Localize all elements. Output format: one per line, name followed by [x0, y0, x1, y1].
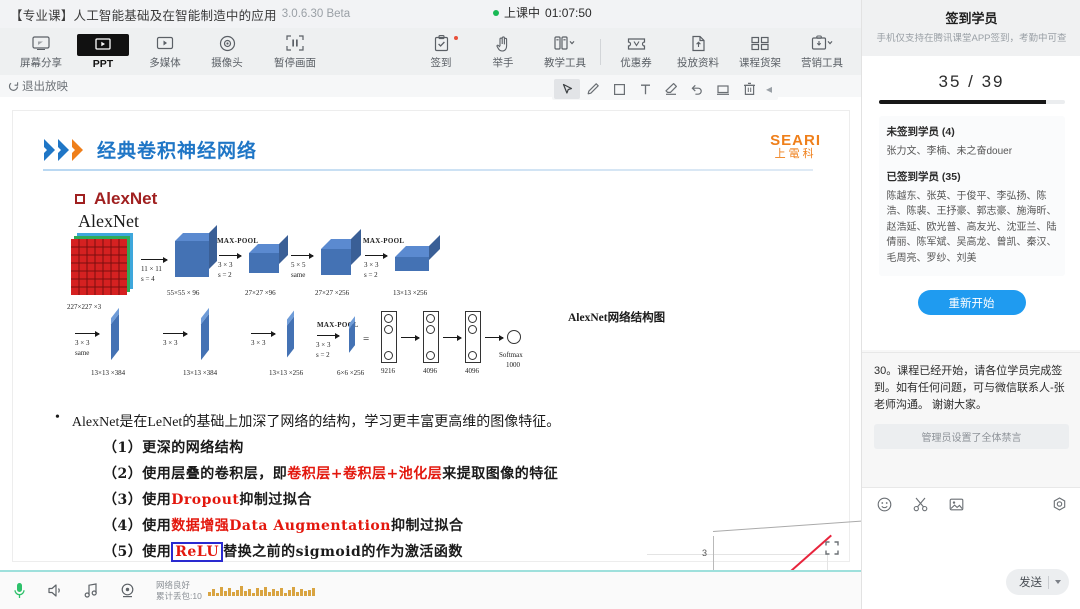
speaker-icon[interactable]: [46, 582, 64, 600]
slide-header-rule: [43, 169, 813, 171]
toolbar-screen-share[interactable]: 屏幕分享: [10, 28, 72, 75]
toolbar-raise-hand[interactable]: 举手: [472, 28, 534, 75]
drawing-toolbar: ◂: [552, 78, 778, 100]
composer-toolbar: [862, 488, 1080, 512]
exit-presentation-icon: [8, 81, 19, 92]
toolbar-screen-share-label: 屏幕分享: [20, 55, 62, 70]
figure-label-conv2-a: 5 × 5: [291, 261, 305, 269]
bullet-sub-2-t2: 来提取图像的特征: [442, 466, 558, 482]
emoji-icon[interactable]: [876, 496, 892, 512]
trash-icon[interactable]: [736, 79, 762, 99]
pen-icon[interactable]: [580, 79, 606, 99]
toolbar-left-group: 屏幕分享 PPT 多媒体: [10, 28, 332, 75]
figure-label-fc2: 4096: [423, 367, 437, 375]
signed-heading: 已签到学员 (35): [887, 169, 1057, 184]
undo-icon[interactable]: [684, 79, 710, 99]
chat-composer: 发送: [862, 487, 1080, 609]
bullet-sub-2-t0: 使用层叠的卷积层，即: [142, 466, 287, 482]
figure-name: AlexNet: [78, 211, 139, 232]
figure-label-pool2-b: s = 2: [364, 271, 378, 279]
exit-presentation-label: 退出放映: [22, 78, 68, 94]
live-timer: 01:07:50: [545, 6, 592, 20]
toolbar-camera[interactable]: 摄像头: [196, 28, 258, 75]
figure-arrow-6: [163, 333, 187, 334]
figure-label-conv4-a: 3 × 3: [163, 339, 177, 347]
toolbar-raise-hand-label: 举手: [493, 55, 514, 70]
bullet-sub-4-t1: 数据增强Data Augmentation: [171, 518, 391, 534]
bullet-sub-3: （3）使用Dropout抑制过拟合: [103, 489, 755, 509]
figure-label-pool3-b: s = 2: [316, 351, 330, 359]
toolbar-coupon-label: 优惠券: [620, 55, 652, 70]
send-options-caret-icon[interactable]: [1055, 580, 1061, 584]
send-button-label: 发送: [1019, 574, 1042, 590]
figure-arrow-2: [219, 255, 241, 256]
bottom-status-bar: 网络良好 累计丢包:10: [0, 570, 861, 609]
figure-block-conv2: [321, 249, 351, 275]
slide-heading: AlexNet: [75, 189, 157, 209]
figure-label-conv1-b: s = 4: [141, 275, 155, 283]
seari-logo-en: SEARI: [770, 133, 821, 148]
send-button-divider: [1048, 576, 1049, 589]
figure-arrow-3: [291, 255, 313, 256]
alexnet-figure: AlexNet: [63, 211, 543, 391]
figure-label-conv2-b: same: [291, 271, 305, 279]
figure-caption: AlexNet网络结构图: [568, 309, 665, 325]
main-toolbar: 屏幕分享 PPT 多媒体: [0, 28, 861, 75]
teaching-tools-icon: [554, 33, 576, 53]
slide-section-title: 经典卷积神经网络: [97, 136, 257, 163]
scissors-icon[interactable]: [912, 496, 928, 512]
bullet-sub-4-num: （4）: [103, 518, 142, 534]
send-button[interactable]: 发送: [1006, 569, 1069, 595]
toolbar-teaching-tools[interactable]: 教学工具: [534, 28, 596, 75]
send-row: 发送: [1006, 569, 1069, 595]
figure-label-conv3-b: same: [75, 349, 89, 357]
send-material-icon: [691, 33, 706, 53]
raise-hand-icon: [496, 33, 511, 53]
bullet-sub-4-t0: 使用: [142, 518, 171, 534]
screen-share-icon: [32, 33, 50, 53]
toolbar-ppt-label: PPT: [93, 58, 113, 70]
image-icon[interactable]: [948, 496, 964, 512]
mute-notice: 管理员设置了全体禁言: [874, 424, 1069, 449]
bullet-sub-4-t2: 抑制过拟合: [391, 518, 464, 534]
bullet-sub-5-t0: 使用: [142, 544, 171, 560]
signed-count: (35): [942, 171, 961, 183]
toolbar-checkin[interactable]: 签到: [410, 28, 472, 75]
chat-message: 30。课程已经开始，请各位学员完成签到。如有任何问题，可与微信联系人-张老师沟通…: [874, 363, 1069, 414]
not-signed-count: (4): [942, 126, 955, 138]
chat-area: 30。课程已经开始，请各位学员完成签到。如有任何问题，可与微信联系人-张老师沟通…: [862, 352, 1080, 487]
toolbar-media[interactable]: 多媒体: [134, 28, 196, 75]
figure-label-pool2-a: 3 × 3: [364, 261, 378, 269]
text-icon[interactable]: [632, 79, 658, 99]
bullet-sub-3-t1: Dropout: [171, 492, 239, 508]
figure-label-conv3-out: 13×13 ×384: [91, 369, 125, 377]
slide-chevrons-icon: [43, 137, 91, 163]
window-version: 3.0.6.30 Beta: [282, 8, 350, 20]
bullet-sub-4: （4）使用数据增强Data Augmentation抑制过拟合: [103, 515, 755, 535]
signin-name-lists: 未签到学员 (4) 张力文、李楠、未之奋douer 已签到学员 (35) 陈越东…: [879, 116, 1065, 276]
figure-label-pool2-out: 13×13 ×256: [393, 289, 427, 297]
figure-label-conv5-a: 3 × 3: [251, 339, 265, 347]
pause-frame-icon: [286, 33, 304, 53]
figure-label-conv1-a: 11 × 11: [141, 265, 162, 273]
figure-block-pool3: [349, 321, 355, 353]
input-image-stack: [71, 233, 133, 295]
toolbar-pause-frame-label: 暂停画面: [274, 55, 316, 70]
not-signed-heading: 未签到学员 (4): [887, 124, 1057, 139]
relu-positive-segment: [712, 535, 832, 570]
camera-icon: [219, 33, 236, 53]
signin-progress-fill: [879, 100, 1046, 104]
fullscreen-icon[interactable]: [825, 541, 841, 557]
toolbar-send-material[interactable]: 投放资料: [667, 28, 729, 75]
bullet-main-text: AlexNet是在LeNet的基础上加深了网络的结构，学习更丰富更高维的图像特征…: [72, 411, 560, 431]
bullet-square-icon: [75, 194, 85, 204]
toolbar-pause-frame[interactable]: 暂停画面: [258, 28, 332, 75]
slide-canvas[interactable]: 经典卷积神经网络 SEARI 上電科 AlexNet AlexNet: [12, 110, 850, 562]
toolbar-coupon[interactable]: 优惠券: [605, 28, 667, 75]
figure-label-pool1-title: MAX-POOL: [217, 237, 258, 245]
live-status-label: 上课中: [504, 4, 540, 21]
microphone-icon[interactable]: [10, 582, 28, 600]
figure-block-conv1: [175, 241, 209, 277]
figure-arrow-11: [485, 337, 503, 338]
bullet-sub-5-relu-annotation: ReLU: [171, 542, 223, 562]
figure-arrow-7: [251, 333, 275, 334]
bullet-sub-3-t2: 抑制过拟合: [239, 492, 312, 508]
bullet-main: • AlexNet是在LeNet的基础上加深了网络的结构，学习更丰富更高维的图像…: [55, 411, 755, 431]
network-packet-loss: 累计丢包:10: [156, 591, 202, 602]
eraser-icon[interactable]: [658, 79, 684, 99]
app-root: 【专业课】人工智能基础及在智能制造中的应用 3.0.6.30 Beta 上课中 …: [0, 0, 1080, 609]
live-status: 上课中 01:07:50: [493, 4, 592, 21]
settings-icon[interactable]: [1051, 496, 1067, 512]
signin-progress-bar: [879, 100, 1065, 104]
figure-label-input: 227×227 ×3: [67, 303, 101, 311]
ppt-icon: [77, 34, 129, 56]
bullet-sub-5-num: （5）: [103, 544, 142, 560]
signin-panel-title: 签到学员: [872, 8, 1071, 27]
figure-arrow-8: [317, 335, 339, 336]
network-status-text: 网络良好 累计丢包:10: [156, 580, 202, 601]
figure-block-conv3: [111, 314, 119, 360]
toolbar-divider: [600, 39, 601, 65]
restart-button[interactable]: 重新开始: [918, 290, 1026, 315]
figure-label-equals: =: [363, 333, 369, 345]
figure-label-conv5-out: 13×13 ×256: [269, 369, 303, 377]
seari-logo-cn: 上電科: [770, 149, 821, 160]
coupon-icon: [627, 33, 646, 53]
toolbar-checkin-label: 签到: [431, 55, 452, 70]
toolbar-media-label: 多媒体: [149, 55, 181, 70]
bullet-sub-5-t2: 替换之前的sigmoid的作为激活函数: [223, 544, 463, 560]
rectangle-icon[interactable]: [606, 79, 632, 99]
window-title-bar: 【专业课】人工智能基础及在智能制造中的应用 3.0.6.30 Beta: [0, 0, 861, 28]
marketing-tools-icon: [811, 33, 833, 53]
bullet-sub-1-num: （1）: [103, 440, 142, 456]
slide-heading-text: AlexNet: [94, 189, 157, 209]
cursor-icon[interactable]: [554, 79, 580, 99]
figure-label-fc1: 9216: [381, 367, 395, 375]
network-status: 网络良好 累计丢包:10: [156, 580, 316, 601]
relu-ytick-3: 3: [702, 548, 707, 558]
bullet-sub-2-num: （2）: [103, 466, 142, 482]
main-area: 【专业课】人工智能基础及在智能制造中的应用 3.0.6.30 Beta 上课中 …: [0, 0, 861, 609]
course-shelf-icon: [751, 33, 769, 53]
figure-label-pool3-out: 6×6 ×256: [337, 369, 364, 377]
figure-arrow-1: [141, 259, 167, 260]
drawing-toolbar-more[interactable]: ◂: [762, 82, 776, 96]
figure-output-node: [507, 330, 521, 344]
signin-panel-body: 35 / 39 未签到学员 (4) 张力文、李楠、未之奋douer 已签到学员 …: [862, 56, 1080, 350]
relu-gridline-y3: [647, 554, 827, 555]
figure-block-pool2: [395, 257, 429, 271]
toolbar-ppt[interactable]: PPT: [72, 28, 134, 75]
bullet-sub-1: （1）更深的网络结构: [103, 437, 755, 457]
figure-arrow-9: [401, 337, 419, 338]
figure-label-conv1-out: 55×55 × 96: [167, 289, 199, 297]
signin-panel-subtitle: 手机仅支持在腾讯课堂APP签到，考勤中可查: [872, 33, 1071, 45]
toolbar-camera-label: 摄像头: [211, 55, 243, 70]
figure-label-conv4-out: 13×13 ×384: [183, 369, 217, 377]
figure-arrow-5: [75, 333, 99, 334]
audio-level-meter: [208, 585, 316, 596]
media-icon: [156, 33, 174, 53]
seari-logo: SEARI 上電科: [770, 133, 821, 160]
checkin-icon: [434, 33, 449, 53]
exit-presentation-button[interactable]: 退出放映: [8, 78, 68, 94]
figure-label-pool1-out: 27×27 ×96: [245, 289, 276, 297]
figure-arrow-4: [365, 255, 387, 256]
window-title: 【专业课】人工智能基础及在智能制造中的应用: [10, 5, 277, 24]
figure-block-conv5: [287, 317, 294, 358]
figure-block-pool1: [249, 253, 279, 273]
signed-title: 已签到学员: [887, 171, 940, 183]
music-icon[interactable]: [82, 582, 100, 600]
figure-arrow-10: [443, 337, 461, 338]
toolbar-course-shelf[interactable]: 课程货架: [729, 28, 791, 75]
toolbar-teaching-tools-label: 教学工具: [544, 55, 586, 70]
bullet-sub-1-t0: 更深的网络结构: [142, 440, 244, 456]
figure-label-conv3-a: 3 × 3: [75, 339, 89, 347]
figure-label-conv2-out: 27×27 ×256: [315, 289, 349, 297]
figure-label-softmax: Softmax: [499, 351, 523, 359]
figure-label-softmax-classes: 1000: [506, 361, 520, 369]
signed-names: 陈越东、张英、于俊平、李弘扬、陈浩、陈裴、王抒豪、郭志豪、施海昕、赵浩延、欧光普…: [887, 189, 1057, 267]
toolbar-course-shelf-label: 课程货架: [739, 55, 781, 70]
signin-count: 35 / 39: [939, 72, 1005, 92]
bullet-sub-3-num: （3）: [103, 492, 142, 508]
figure-block-conv4: [201, 314, 209, 360]
toolbar-right-group: 签到 举手 教学工具: [410, 28, 853, 75]
relu-y-axis: [713, 536, 714, 570]
bullet-sub-3-t0: 使用: [142, 492, 171, 508]
toolbar-marketing-tools-label: 营销工具: [801, 55, 843, 70]
live-dot-icon: [493, 10, 499, 16]
bullet-sub-2: （2）使用层叠的卷积层，即卷积层+卷积层+池化层来提取图像的特征: [103, 463, 755, 483]
signin-panel-header: 签到学员 手机仅支持在腾讯课堂APP签到，考勤中可查: [862, 0, 1080, 56]
bullet-dot-icon: •: [55, 411, 60, 425]
toolbar-marketing-tools[interactable]: 营销工具: [791, 28, 853, 75]
laser-pointer-icon[interactable]: [710, 79, 736, 99]
toolbar-send-material-label: 投放资料: [677, 55, 719, 70]
network-quality: 网络良好: [156, 580, 202, 591]
not-signed-names: 张力文、李楠、未之奋douer: [887, 144, 1057, 160]
figure-label-fc3: 4096: [465, 367, 479, 375]
slide-stage: 经典卷积神经网络 SEARI 上電科 AlexNet AlexNet: [0, 100, 861, 570]
checkin-badge-dot: [454, 36, 458, 40]
bullet-sub-2-t1: 卷积层+卷积层+池化层: [287, 466, 442, 482]
figure-label-pool2-title: MAX-POOL: [363, 237, 404, 245]
figure-label-pool1-a: 3 × 3: [218, 261, 232, 269]
figure-label-pool1-b: s = 2: [218, 271, 232, 279]
figure-label-pool3-a: 3 × 3: [316, 341, 330, 349]
camera-dot-icon[interactable]: [118, 582, 136, 600]
not-signed-title: 未签到学员: [887, 126, 940, 138]
right-panel: 签到学员 手机仅支持在腾讯课堂APP签到，考勤中可查 35 / 39 未签到学员…: [861, 0, 1080, 609]
